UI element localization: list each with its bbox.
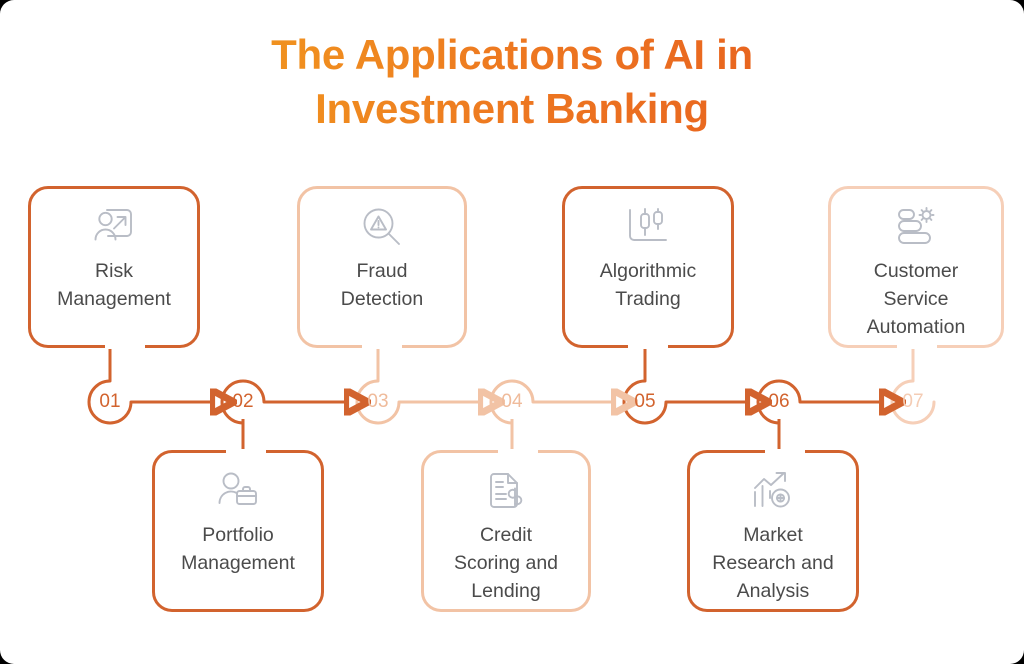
card-customer-service-automation[interactable]: Customer Service Automation [828,186,1004,348]
card-notch [362,343,402,349]
step-number-04: 04 [490,380,534,424]
card-notch [765,449,805,455]
card-notch [628,343,668,349]
card-label: Customer Service Automation [859,257,974,341]
step-number-06: 06 [757,380,801,424]
growth-chart-target-icon [751,467,795,515]
card-label: Portfolio Management [173,521,303,577]
card-portfolio-management[interactable]: Portfolio Management [152,450,324,612]
step-number-03: 03 [356,380,400,424]
card-market-research-and-analysis[interactable]: Market Research and Analysis [687,450,859,612]
card-notch [897,343,937,349]
card-label: Algorithmic Trading [592,257,704,313]
candlestick-chart-icon [626,203,670,251]
page-title-line-1: The Applications of AI in [0,28,1024,82]
person-briefcase-icon [216,467,260,515]
card-label: Fraud Detection [333,257,431,313]
card-risk-management[interactable]: Risk Management [28,186,200,348]
step-number-02: 02 [221,380,265,424]
document-dollar-icon [486,467,526,515]
card-label: Market Research and Analysis [704,521,841,605]
infographic-canvas: The Applications of AI in Investment Ban… [0,0,1024,664]
card-credit-scoring-and-lending[interactable]: Credit Scoring and Lending [421,450,591,612]
magnifier-warning-icon [361,203,403,251]
card-notch [226,449,266,455]
chatbot-gear-icon [893,203,939,251]
page-title: The Applications of AI in Investment Ban… [0,28,1024,136]
step-number-07: 07 [891,380,935,424]
step-number-05: 05 [623,380,667,424]
step-number-01: 01 [88,380,132,424]
page-title-line-2: Investment Banking [0,82,1024,136]
card-fraud-detection[interactable]: Fraud Detection [297,186,467,348]
card-label: Credit Scoring and Lending [446,521,566,605]
card-algorithmic-trading[interactable]: Algorithmic Trading [562,186,734,348]
card-notch [498,449,538,455]
person-growth-arrow-icon [92,203,136,251]
card-notch [105,343,145,349]
card-label: Risk Management [49,257,179,313]
